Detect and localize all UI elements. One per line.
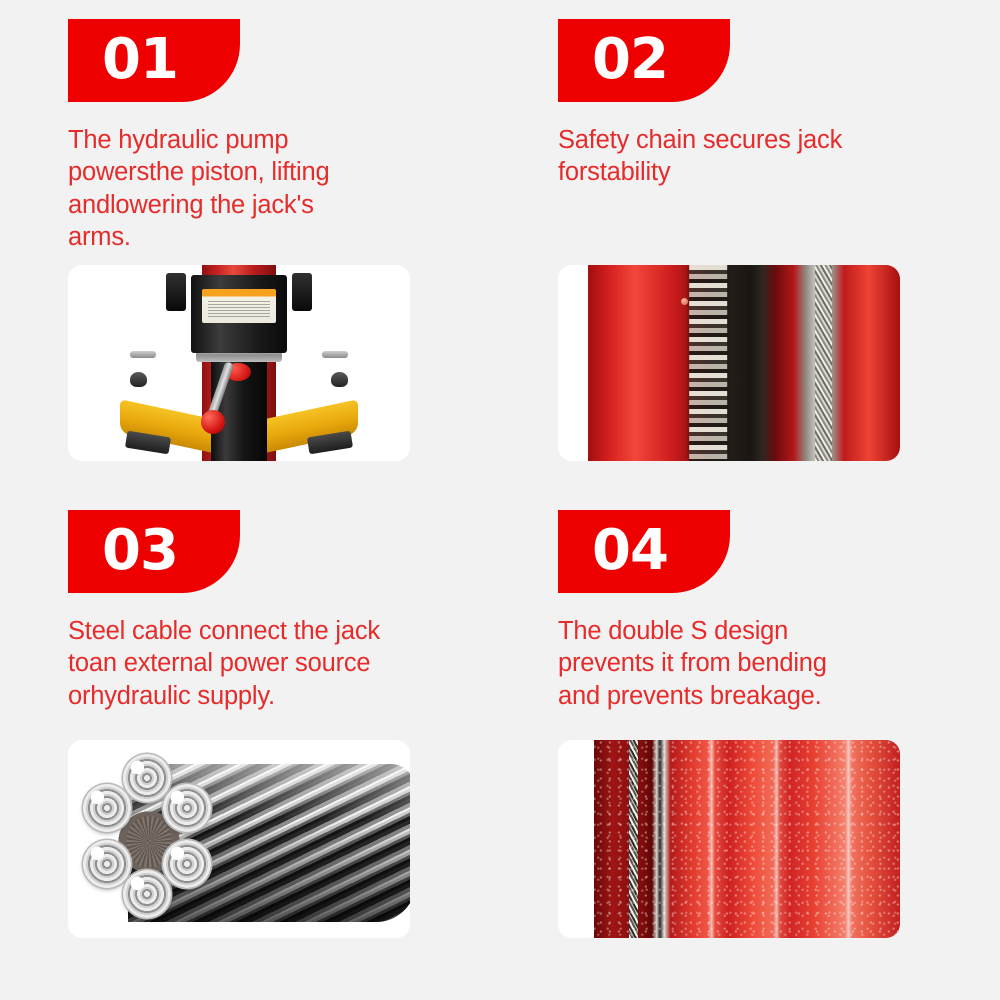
- feature-image-card-04: [558, 740, 900, 938]
- collar-extension-right: [322, 351, 348, 358]
- feature-image-card-03: [68, 740, 410, 938]
- rope-strand: [83, 784, 131, 832]
- badge-number-label: 04: [592, 522, 668, 578]
- rope-strand: [163, 784, 211, 832]
- paint-spray-texture: [558, 740, 900, 938]
- feature-block-01: 01 The hydraulic pump powersthe piston, …: [68, 19, 498, 254]
- badge-number-label: 02: [592, 31, 668, 87]
- pump-handle-knob: [201, 410, 225, 434]
- feature-grid-page: 01 The hydraulic pump powersthe piston, …: [0, 0, 1000, 1000]
- number-badge-03: 03: [68, 510, 240, 593]
- rope-strand: [163, 840, 211, 888]
- motor-cap-left: [166, 273, 186, 311]
- number-badge-04: 04: [558, 510, 730, 593]
- feature-block-02: 02 Safety chain secures jack forstabilit…: [558, 19, 988, 189]
- hydraulic-pump-jack-photo: [68, 265, 410, 461]
- motor-cap-right: [292, 273, 312, 311]
- feature-caption-01: The hydraulic pump powersthe piston, lif…: [68, 124, 428, 254]
- rope-strand: [123, 754, 171, 802]
- feature-caption-04: The double S design prevents it from ben…: [558, 615, 918, 712]
- red-column-frame: [588, 265, 900, 461]
- safety-chain: [690, 265, 728, 461]
- feature-block-03: 03 Steel cable connect the jack toan ext…: [68, 510, 498, 712]
- jack-knob-left: [130, 372, 147, 387]
- feature-caption-02: Safety chain secures jack forstability: [558, 124, 918, 189]
- number-badge-01: 01: [68, 19, 240, 102]
- number-badge-02: 02: [558, 19, 730, 102]
- collar-extension-left: [130, 351, 156, 358]
- feature-caption-03: Steel cable connect the jack toan extern…: [68, 615, 428, 712]
- feature-image-card-02: [558, 265, 900, 461]
- safety-chain-photo: [558, 265, 900, 461]
- steel-cable-strand: [815, 265, 832, 461]
- badge-number-label: 01: [102, 31, 178, 87]
- jack-knob-right: [331, 372, 348, 387]
- badge-number-label: 03: [102, 522, 178, 578]
- column-gloss-highlight: [572, 265, 589, 461]
- warning-label-sticker: [202, 289, 276, 323]
- rope-strand: [123, 870, 171, 918]
- steel-cable-cross-section-photo: [68, 740, 410, 938]
- rope-strand: [83, 840, 131, 888]
- double-s-red-column-photo: [558, 740, 900, 938]
- feature-image-card-01: [68, 265, 410, 461]
- feature-block-04: 04 The double S design prevents it from …: [558, 510, 988, 712]
